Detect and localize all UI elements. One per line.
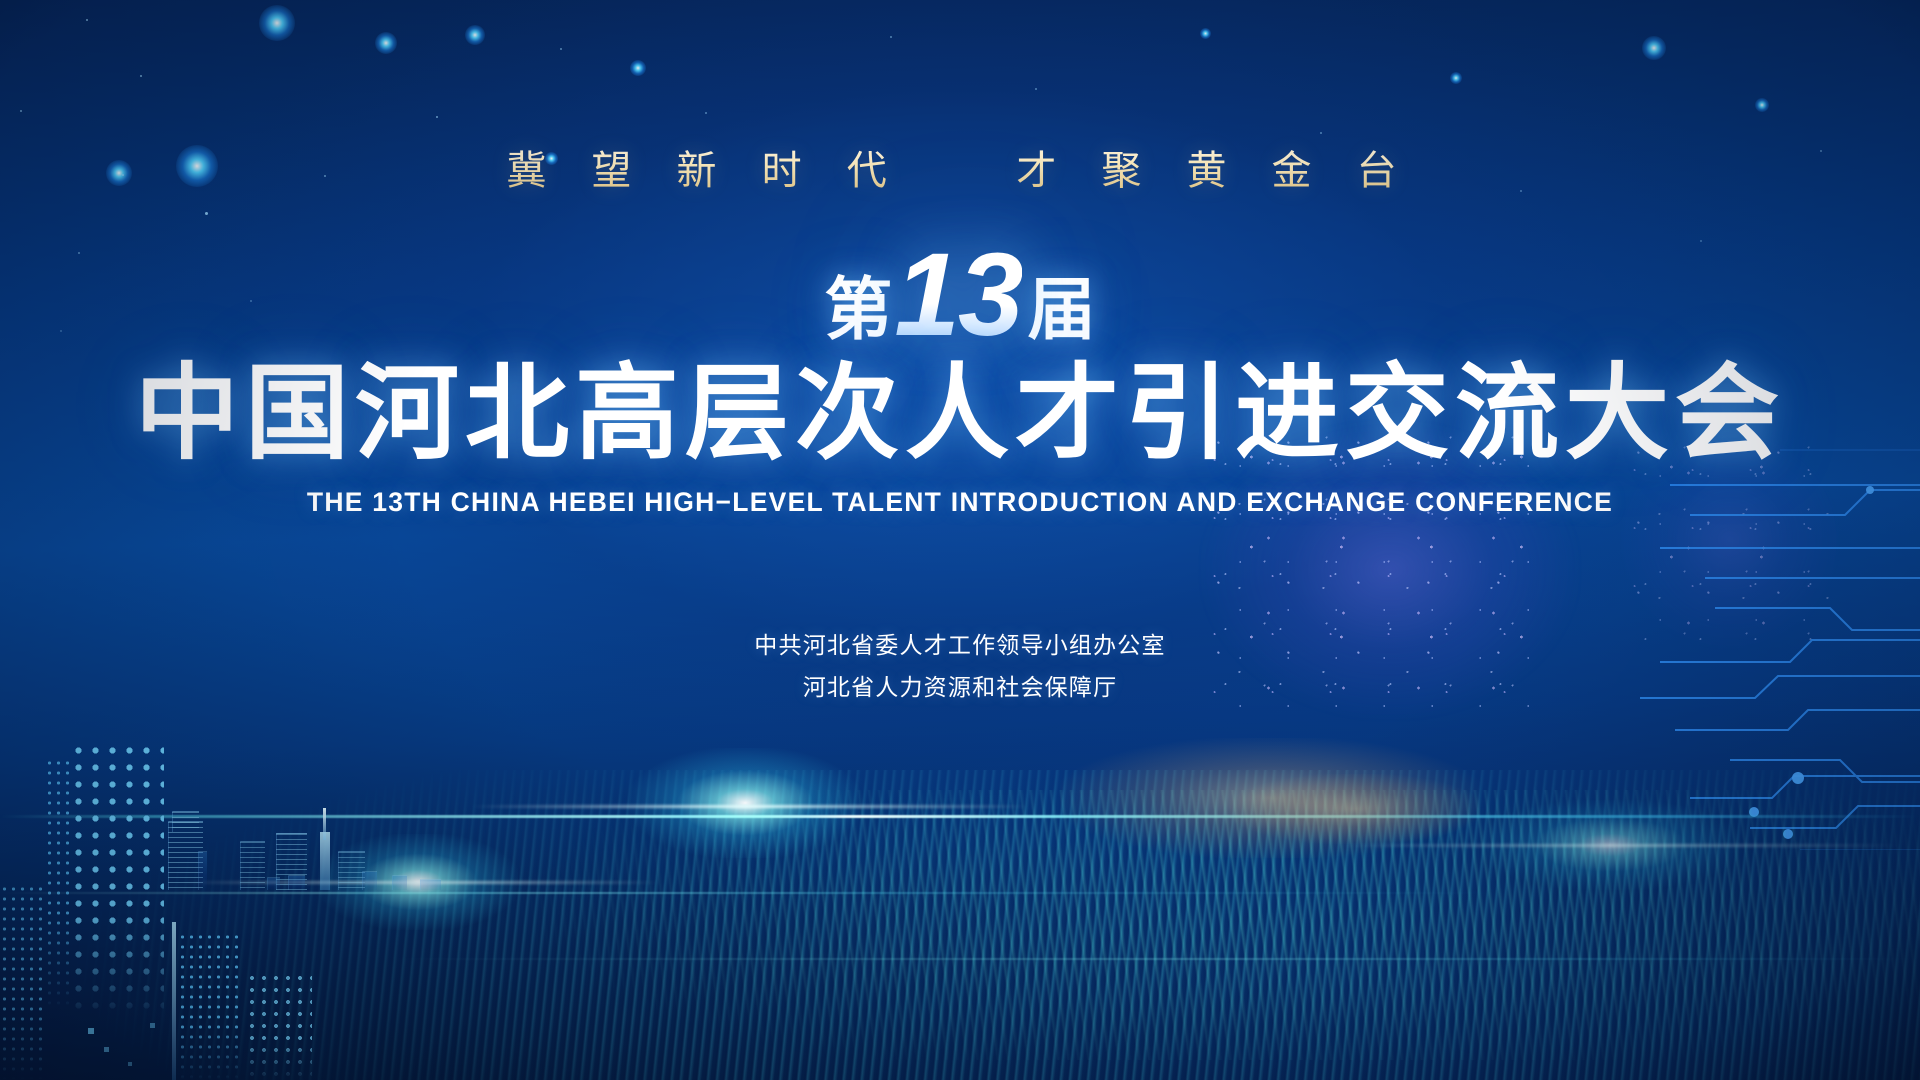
edition-number: 13 (894, 241, 1021, 350)
pixel-dot (104, 1047, 109, 1052)
pixel-dot (150, 1023, 155, 1028)
edition-prefix: 第 (824, 276, 892, 350)
edition-suffix: 届 (1028, 276, 1096, 350)
lens-flare (630, 748, 860, 858)
conference-poster: 冀 望 新 时 代 才 聚 黄 金 台 第 13 届 中国河北高层次人才引进交流… (0, 0, 1920, 1080)
edition-label: 第 13 届 (0, 228, 1920, 350)
building (392, 875, 407, 890)
horizon-glow-line (0, 815, 1920, 818)
pixel-tower-left (0, 884, 46, 1080)
star-glow (1642, 36, 1666, 60)
horizon-glow-line (0, 958, 1920, 960)
star-dot (86, 19, 88, 21)
building-top (172, 811, 199, 832)
star-dot (705, 112, 707, 114)
spire-tower (320, 832, 330, 890)
star-glow (1450, 72, 1462, 84)
building (362, 871, 377, 890)
pixel-tower-main (70, 742, 164, 1018)
pixel-tower-lower (178, 932, 244, 1080)
flare-streak (180, 881, 660, 884)
star-dot (890, 36, 892, 38)
star-dot (205, 212, 208, 215)
wave-mesh-secondary (420, 790, 1920, 1060)
building (267, 877, 280, 890)
lens-flare (318, 834, 518, 930)
organizer-line: 河北省人力资源和社会保障厅 (0, 667, 1920, 709)
star-dot (140, 75, 142, 77)
star-glow (259, 5, 295, 41)
tower-edge (172, 922, 176, 1080)
spire-antenna (323, 808, 326, 840)
poster-headline: 中国河北高层次人才引进交流大会 (0, 358, 1920, 470)
organizer-line: 中共河北省委人才工作领导小组办公室 (0, 625, 1920, 667)
star-glow (1755, 98, 1769, 112)
star-dot (560, 48, 562, 50)
light-wave-horizon (0, 700, 1920, 1080)
wave-mesh (0, 770, 1920, 1080)
poster-subtitle-english: THE 13TH CHINA HEBEI HIGH−LEVEL TALENT I… (0, 487, 1920, 518)
pixel-dot (128, 1062, 132, 1066)
building (198, 851, 207, 890)
star-dot (1320, 132, 1322, 134)
horizon-glow-line (0, 892, 1920, 894)
organizer-block: 中共河北省委人才工作领导小组办公室 河北省人力资源和社会保障厅 (0, 625, 1920, 709)
star-glow (630, 60, 646, 76)
building (420, 879, 441, 890)
star-glow (1200, 28, 1211, 39)
building (240, 841, 265, 890)
warm-light-glow (1230, 774, 1480, 844)
star-glow (465, 25, 485, 45)
flare-streak (1340, 844, 1900, 847)
pixel-dot (88, 1028, 94, 1034)
star-dot (20, 110, 22, 112)
warm-light-glow (1060, 738, 1480, 858)
building (288, 875, 305, 890)
building (276, 833, 307, 890)
star-glow (375, 32, 397, 54)
poster-tagline: 冀 望 新 时 代 才 聚 黄 金 台 (0, 138, 1920, 196)
star-dot (436, 116, 438, 118)
digital-cityscape (0, 720, 520, 1080)
lens-flare (1480, 800, 1740, 890)
building (338, 851, 365, 890)
star-dot (1035, 88, 1037, 90)
pixel-tower-side (45, 758, 71, 1010)
building (168, 821, 203, 890)
pixel-tower-lower (246, 972, 312, 1080)
flare-streak (470, 805, 1030, 808)
